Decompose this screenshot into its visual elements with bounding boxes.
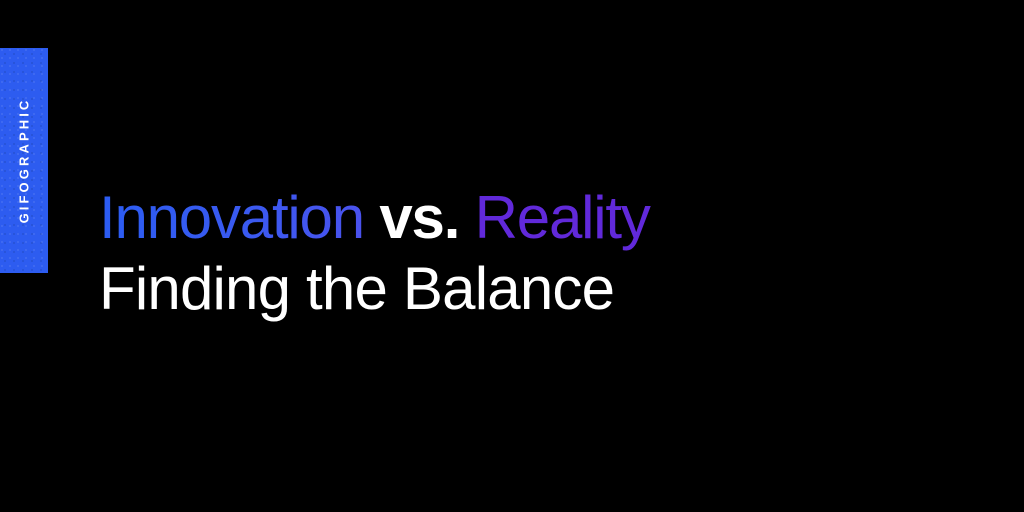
headline-block: Innovation vs. Reality Finding the Balan… (99, 188, 959, 325)
headline-space-a (364, 184, 379, 251)
headline-word-innovation: Innovation (99, 184, 364, 251)
brand-ribbon-label: GIFOGRAPHIC (18, 98, 31, 224)
slide-canvas: GIFOGRAPHIC Innovation vs. Reality Findi… (0, 0, 1024, 512)
headline-space-b (459, 184, 474, 251)
headline-line-primary: Innovation vs. Reality (99, 188, 959, 250)
headline-word-vs: vs. (379, 184, 459, 251)
headline-line-secondary: Finding the Balance (99, 259, 959, 325)
brand-ribbon: GIFOGRAPHIC (0, 48, 48, 273)
headline-word-reality: Reality (475, 184, 650, 251)
